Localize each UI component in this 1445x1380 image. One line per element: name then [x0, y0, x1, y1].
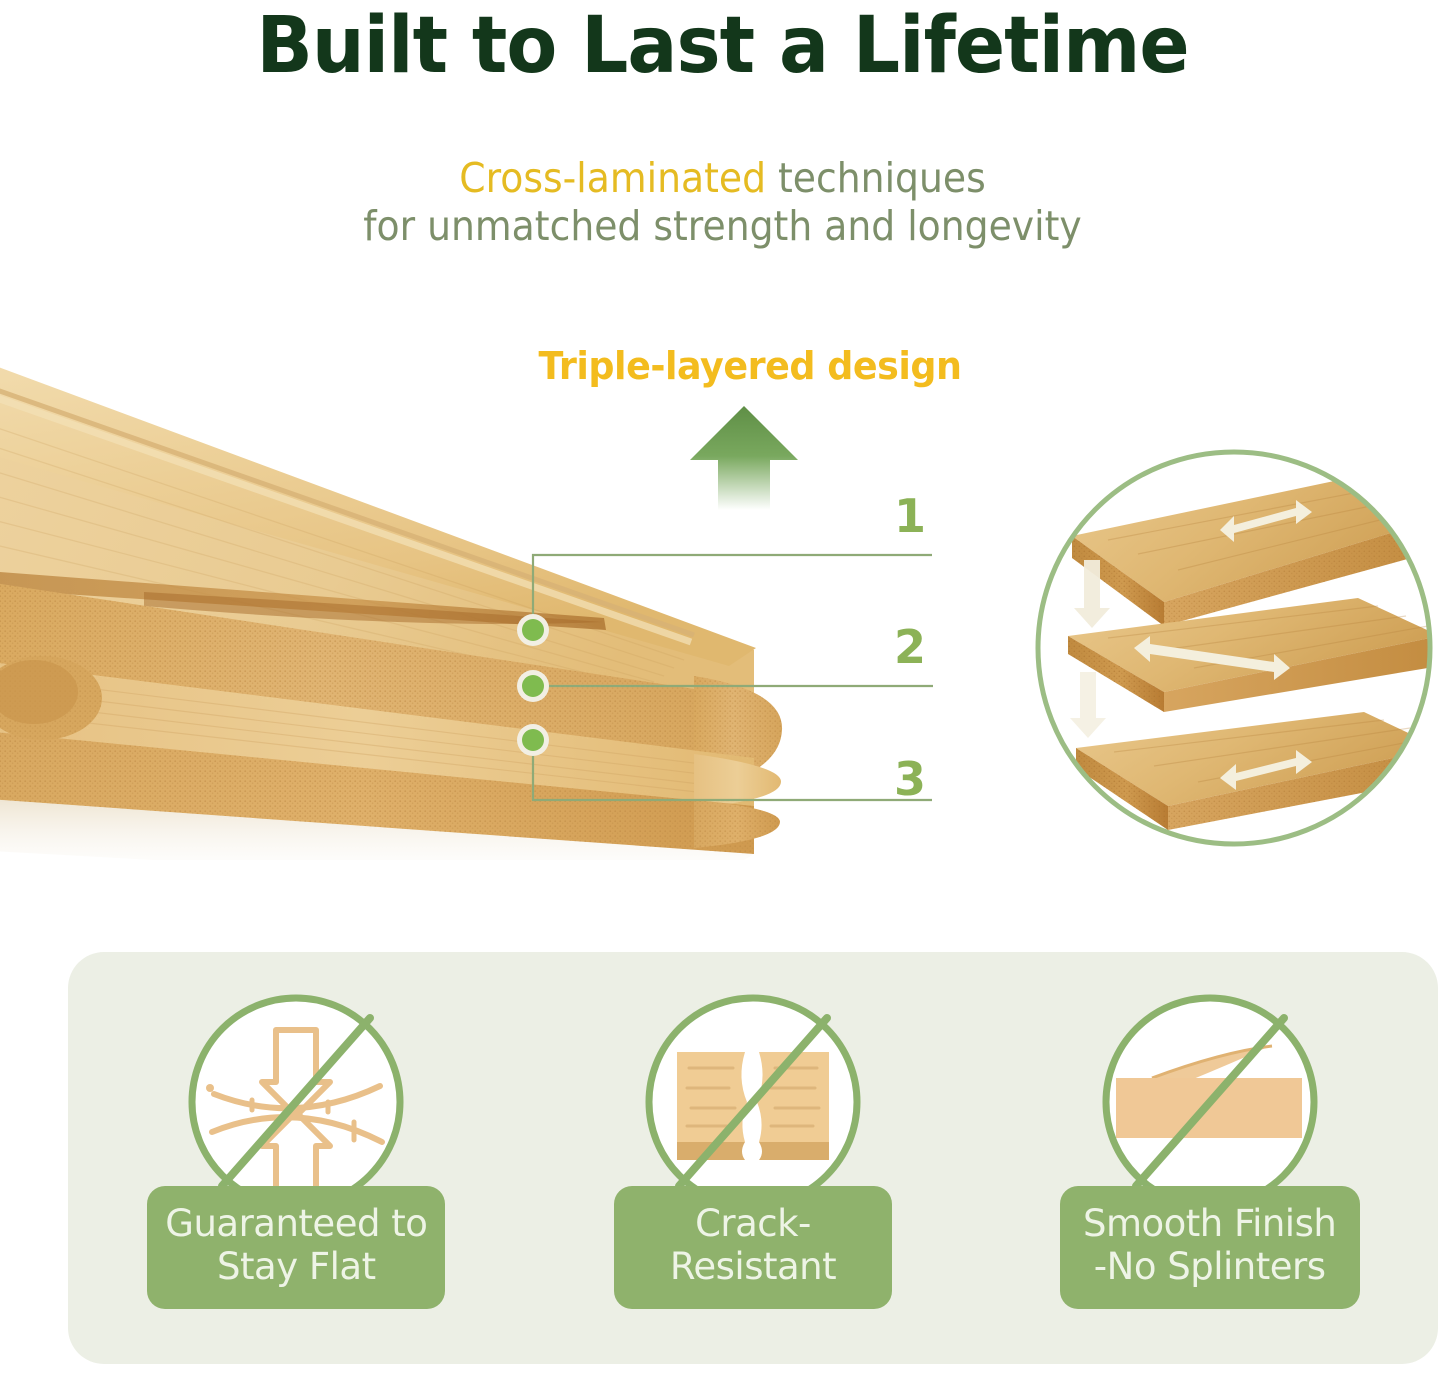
- exploded-layers-inset: [1028, 430, 1440, 870]
- feature-badges: Guaranteed to Stay Flat: [68, 990, 1438, 1330]
- feature-badge-crack-resistant: Crack- Resistant: [563, 990, 943, 1309]
- feature-label-line-2: Resistant: [632, 1245, 874, 1288]
- feature-label-line-1: Smooth Finish: [1078, 1202, 1342, 1245]
- feature-label-line-1: Crack-: [632, 1202, 874, 1245]
- layer-number-3: 3: [894, 752, 925, 806]
- infographic-canvas: Built to Last a Lifetime Cross-laminated…: [0, 0, 1445, 1380]
- layer-number-2: 2: [894, 620, 925, 674]
- feature-label-stay-flat: Guaranteed to Stay Flat: [147, 1186, 445, 1309]
- triple-layered-design-title: Triple-layered design: [443, 344, 1057, 388]
- feature-label-line-2: Stay Flat: [165, 1245, 427, 1288]
- layer-number-1: 1: [894, 489, 925, 543]
- feature-badge-stay-flat: Guaranteed to Stay Flat: [106, 990, 486, 1309]
- feature-label-line-2: -No Splinters: [1078, 1245, 1342, 1288]
- feature-label-crack-resistant: Crack- Resistant: [614, 1186, 892, 1309]
- feature-label-line-1: Guaranteed to: [165, 1202, 427, 1245]
- feature-badge-smooth-finish: Smooth Finish -No Splinters: [1020, 990, 1400, 1309]
- feature-label-smooth-finish: Smooth Finish -No Splinters: [1060, 1186, 1360, 1309]
